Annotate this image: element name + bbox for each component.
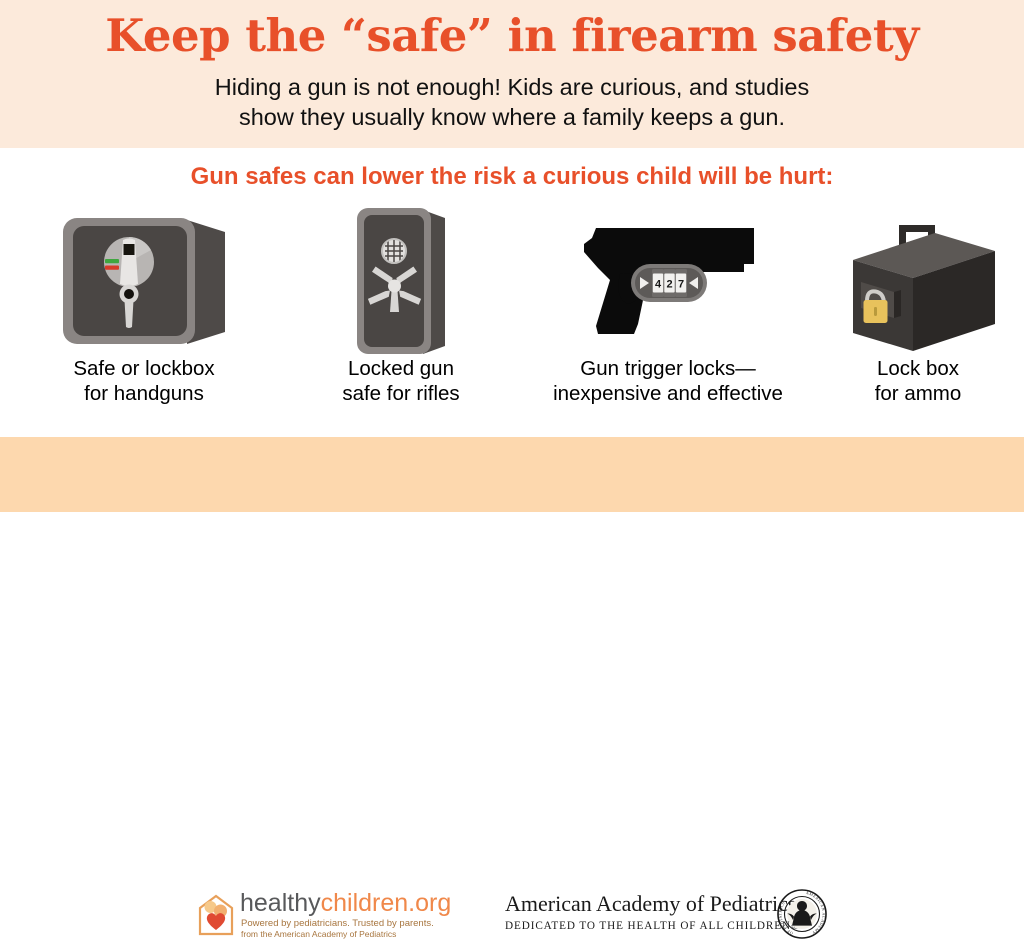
caption-line-2: safe for rifles bbox=[288, 381, 514, 406]
caption-line-2: inexpensive and effective bbox=[518, 381, 818, 406]
icon-caption-ammo-lockbox: Lock box for ammo bbox=[820, 356, 1016, 406]
combo-digit-3: 7 bbox=[678, 279, 684, 291]
main-content: Gun safes can lower the risk a curious c… bbox=[0, 148, 1024, 437]
page-subtitle: Hiding a gun is not enough! Kids are cur… bbox=[0, 72, 1024, 132]
caption-line-1: Lock box bbox=[820, 356, 1016, 381]
icon-caption-rifle-safe: Locked gun safe for rifles bbox=[288, 356, 514, 406]
rifle-safe-icon bbox=[288, 206, 514, 356]
gun-safe-icon bbox=[8, 206, 280, 356]
firearm-safety-infographic: Keep the “safe” in firearm safety Hiding… bbox=[0, 0, 1024, 512]
healthychildren-logo[interactable]: healthychildren.org Powered by pediatric… bbox=[196, 889, 442, 939]
page-title: Keep the “safe” in firearm safety bbox=[0, 8, 1024, 64]
footer-band: healthychildren.org Powered by pediatric… bbox=[0, 437, 1024, 512]
ammo-lock-box-icon bbox=[820, 206, 1016, 356]
icon-item-rifle-safe: Locked gun safe for rifles bbox=[288, 206, 514, 431]
aap-seal-icon: AMERICAN ACADEMY OF PEDIATRICS bbox=[777, 889, 827, 944]
wordmark-children-org: children.org bbox=[321, 889, 452, 917]
icon-caption-safe-lockbox: Safe or lockbox for handguns bbox=[8, 356, 280, 406]
caption-line-1: Locked gun bbox=[288, 356, 514, 381]
combo-digit-1: 4 bbox=[655, 279, 662, 291]
subtitle-line-1: Hiding a gun is not enough! Kids are cur… bbox=[0, 72, 1024, 102]
wordmark-healthy: healthy bbox=[240, 889, 321, 917]
combo-digit-2: 2 bbox=[666, 279, 672, 291]
caption-line-2: for ammo bbox=[820, 381, 1016, 406]
icon-caption-trigger-lock: Gun trigger locks— inexpensive and effec… bbox=[518, 356, 818, 406]
icon-row: Safe or lockbox for handguns bbox=[0, 206, 1024, 431]
icon-item-safe-lockbox: Safe or lockbox for handguns bbox=[8, 206, 280, 431]
icon-item-ammo-lockbox: Lock box for ammo bbox=[820, 206, 1016, 431]
aap-logo[interactable]: American Academy of Pediatrics DEDICATED… bbox=[505, 889, 835, 941]
caption-line-2: for handguns bbox=[8, 381, 280, 406]
healthychildren-mark-icon bbox=[196, 891, 236, 942]
caption-line-1: Safe or lockbox bbox=[8, 356, 280, 381]
header-band: Keep the “safe” in firearm safety Hiding… bbox=[0, 0, 1024, 148]
subtitle-line-2: show they usually know where a family ke… bbox=[0, 102, 1024, 132]
handgun-trigger-lock-icon: 4 2 7 bbox=[518, 206, 818, 356]
caption-line-1: Gun trigger locks— bbox=[518, 356, 818, 381]
aap-tagline: DEDICATED TO THE HEALTH OF ALL CHILDREN® bbox=[505, 919, 773, 933]
section-heading: Gun safes can lower the risk a curious c… bbox=[0, 162, 1024, 192]
healthychildren-tagline-2: from the American Academy of Pediatrics bbox=[241, 929, 396, 940]
aap-name: American Academy of Pediatrics bbox=[505, 890, 773, 917]
healthychildren-wordmark: healthychildren.org bbox=[240, 889, 451, 917]
icon-item-trigger-lock: 4 2 7 bbox=[518, 206, 818, 431]
